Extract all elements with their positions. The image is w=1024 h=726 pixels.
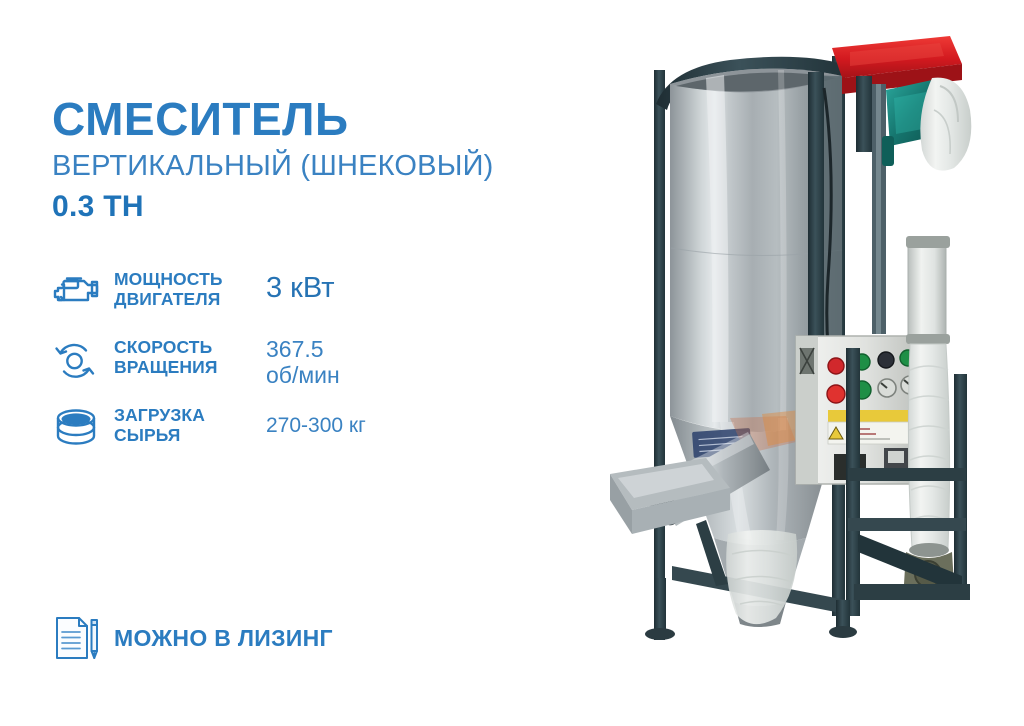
page-title: СМЕСИТЕЛЬ: [52, 96, 494, 143]
foot-pad-left: [645, 628, 675, 640]
leasing-note: МОЖНО В ЛИЗИНГ: [52, 612, 333, 664]
panel-button-red-2: [827, 385, 845, 403]
spec-value-line2: об/мин: [266, 363, 572, 389]
spec-label-line2: ВРАЩЕНИЯ: [114, 358, 254, 378]
screw-conveyor: [904, 236, 954, 591]
spec-value-line1: 270-300 кг: [266, 414, 572, 438]
panel-button-red-1: [828, 358, 844, 374]
info-column: СМЕСИТЕЛЬ ВЕРТИКАЛЬНЫЙ (ШНЕКОВЫЙ) 0.3 ТН: [52, 0, 612, 726]
spec-row-material-load: ЗАГРУЗКА СЫРЬЯ 270-300 кг: [52, 404, 572, 472]
spec-label-material-load: ЗАГРУЗКА СЫРЬЯ: [114, 404, 254, 445]
product-photo: [610, 18, 1024, 698]
spec-label-rotation-speed: СКОРОСТЬ ВРАЩЕНИЯ: [114, 336, 254, 377]
spec-label-motor-power: МОЩНОСТЬ ДВИГАТЕЛЯ: [114, 268, 254, 309]
spec-row-motor-power: МОЩНОСТЬ ДВИГАТЕЛЯ 3 кВт: [52, 268, 572, 336]
spec-label-line2: ДВИГАТЕЛЯ: [114, 290, 254, 310]
spec-value-material-load: 270-300 кг: [254, 404, 572, 438]
spec-value-rotation-speed: 367.5 об/мин: [254, 336, 572, 389]
rotation-icon: [52, 336, 114, 382]
spec-label-line2: СЫРЬЯ: [114, 426, 254, 446]
capacity-label: 0.3 ТН: [52, 190, 494, 223]
spec-value-line1: 3 кВт: [266, 272, 572, 304]
frame-far-right-upright: [954, 374, 967, 594]
foot-pad-right: [829, 626, 857, 638]
page-subtitle: ВЕРТИКАЛЬНЫЙ (ШНЕКОВЫЙ): [52, 148, 494, 184]
frame-left-upright: [654, 70, 665, 640]
spec-label-line1: СКОРОСТЬ: [114, 338, 254, 358]
spec-list: МОЩНОСТЬ ДВИГАТЕЛЯ 3 кВт: [52, 268, 572, 472]
engine-icon: [52, 268, 114, 308]
base-cross-rail-mid: [848, 518, 966, 531]
spec-label-line1: ЗАГРУЗКА: [114, 406, 254, 426]
base-cross-rail-upper: [848, 468, 966, 481]
spec-value-line1: 367.5: [266, 337, 572, 363]
spec-label-line1: МОЩНОСТЬ: [114, 270, 254, 290]
mixer-illustration: [610, 18, 1024, 698]
frame-right-upright: [846, 348, 860, 616]
title-block: СМЕСИТЕЛЬ ВЕРТИКАЛЬНЫЙ (ШНЕКОВЫЙ) 0.3 ТН: [52, 96, 494, 223]
leasing-label: МОЖНО В ЛИЗИНГ: [114, 625, 333, 652]
document-pen-icon: [52, 612, 114, 664]
spec-row-rotation-speed: СКОРОСТЬ ВРАЩЕНИЯ 367.5 об/мин: [52, 336, 572, 404]
spec-value-motor-power: 3 кВт: [254, 268, 572, 304]
container-icon: [52, 404, 114, 448]
panel-knob-dark-1: [878, 352, 894, 368]
base-bottom-rail: [854, 584, 970, 600]
